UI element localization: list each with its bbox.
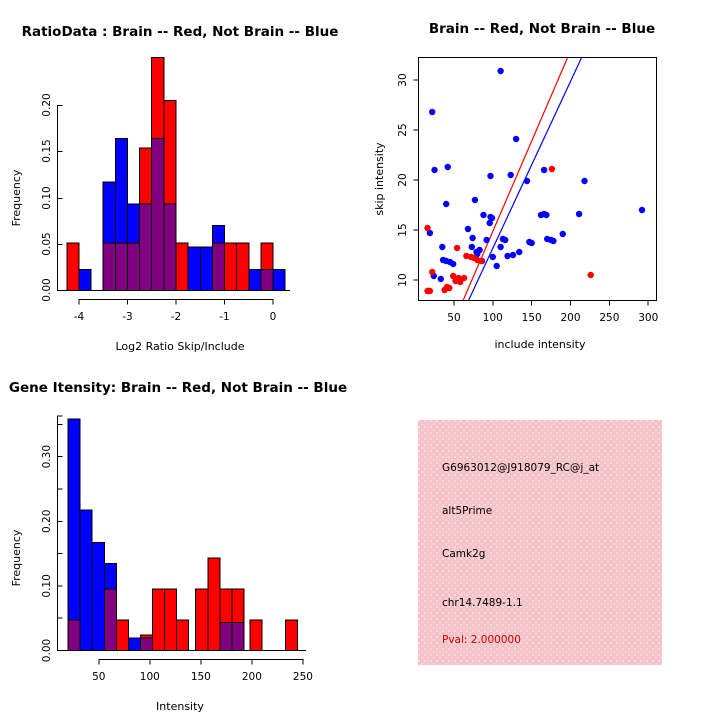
x-tick-label-3: -1 (219, 311, 229, 323)
ratio-bar-overlap (212, 243, 224, 290)
x-tick-label-4: 0 (270, 311, 277, 323)
gene-bar-brain (208, 558, 220, 650)
scatter-x-tick-label-3: 200 (561, 312, 581, 324)
scatter-x-axis: 50100150200250300 (447, 301, 658, 325)
gene-x-tick-label-2: 150 (191, 671, 211, 683)
gene-bar-brain (152, 589, 164, 650)
scatter-point-not-brain (429, 109, 435, 115)
gene-bar-brain (196, 589, 208, 650)
ratio-bars-brain (67, 58, 273, 291)
scatter-point-brain (424, 225, 430, 231)
scatter-point-not-brain (487, 220, 493, 226)
gene-y-tick-label-3: 0.30 (41, 445, 53, 468)
scatter-x-tick-label-2: 150 (522, 312, 542, 324)
scatter-point-not-brain (550, 238, 556, 244)
scatter-point-brain (429, 269, 435, 275)
intensity-scatter-panel: Brain -- Red, Not Brain -- Blue 10152025… (360, 0, 720, 360)
scatter-point-brain (441, 287, 447, 293)
scatter-title: Brain -- Red, Not Brain -- Blue (429, 21, 655, 37)
gene-bar-overlap (68, 620, 80, 651)
scatter-point-not-brain (445, 164, 451, 170)
scatter-x-tick-label-1: 100 (483, 312, 503, 324)
scatter-point-not-brain (431, 167, 437, 173)
scatter-point-not-brain (507, 172, 513, 178)
scatter-points-not-brain (426, 68, 645, 294)
gene-intensity-histogram-panel: Gene Itensity: Brain -- Red, Not Brain -… (0, 360, 360, 720)
gene-y-axis-line (58, 416, 63, 651)
scatter-point-brain (457, 279, 463, 285)
scatter-point-not-brain (516, 249, 522, 255)
ratio-bar-overlap (164, 204, 176, 291)
scatter-point-not-brain (450, 261, 456, 267)
ratio-bar-brain (67, 243, 79, 290)
probe-id-text: G6963012@J918079_RC@j_at (442, 462, 599, 474)
scatter-point-not-brain (528, 240, 534, 246)
scatter-y-axis: 1015202530 (397, 73, 419, 286)
ratio-bar-not-brain (273, 270, 285, 291)
gene-info-panel: G6963012@J918079_RC@j_at alt5Prime Camk2… (360, 360, 720, 720)
scatter-y-tick-label-1: 15 (397, 223, 409, 236)
scatter-x-tick-label-4: 250 (599, 312, 619, 324)
scatter-point-not-brain (504, 253, 510, 259)
gene-bar-overlap (220, 622, 232, 650)
scatter-point-not-brain (581, 178, 587, 184)
ratio-bar-overlap (152, 139, 164, 291)
scatter-point-not-brain (560, 231, 566, 237)
x-axis-title: Log2 Ratio Skip/Include (115, 340, 244, 353)
scatter-y-tick-label-4: 30 (397, 73, 409, 86)
locus-text: chr14.7489-1.1 (442, 597, 523, 609)
ratio-histogram-y-axis: 0.00 0.05 0.10 0.15 0.20 Frequency (10, 93, 63, 301)
scatter-point-not-brain (487, 173, 493, 179)
gene-bar-brain (177, 620, 189, 651)
gene-x-tick-label-1: 100 (140, 671, 160, 683)
scatter-x-tick-label-0: 50 (447, 312, 460, 324)
scatter-y-tick-label-2: 20 (397, 173, 409, 186)
gene-histogram-y-axis: 0.000.100.200.30 (41, 416, 63, 662)
x-tick-label-2: -2 (171, 311, 181, 323)
gene-bar-not-brain (80, 510, 92, 650)
scatter-y-tick-label-0: 10 (397, 273, 409, 286)
scatter-point-not-brain (502, 237, 508, 243)
scatter-point-brain (588, 272, 594, 278)
ratio-bar-brain (237, 243, 249, 290)
scatter-point-not-brain (465, 226, 471, 232)
ratio-bar-overlap (140, 204, 152, 291)
scatter-point-not-brain (541, 167, 547, 173)
scatter-point-not-brain (490, 254, 496, 260)
gene-x-axis-title: Intensity (156, 700, 204, 713)
scatter-point-not-brain (576, 211, 582, 217)
scatter-point-not-brain (524, 178, 530, 184)
scatter-point-not-brain (469, 235, 475, 241)
x-tick-label-1: -3 (122, 311, 132, 323)
scatter-point-not-brain (497, 244, 503, 250)
gene-y-axis-title: Frequency (10, 529, 23, 586)
gene-info-box: G6963012@J918079_RC@j_at alt5Prime Camk2… (418, 420, 662, 665)
scatter-x-axis-title: include intensity (494, 338, 586, 351)
x-tick-label-0: -4 (74, 311, 85, 323)
ratio-histogram-svg: RatioData : Brain -- Red, Not Brain -- B… (0, 0, 360, 360)
scatter-point-not-brain (639, 207, 645, 213)
ratio-bar-overlap (115, 243, 127, 290)
gene-x-tick-label-3: 200 (242, 671, 262, 683)
scatter-point-not-brain (443, 201, 449, 207)
ratio-histogram-x-axis: -4-3-2-10 (74, 300, 277, 324)
pval-text: Pval: 2.000000 (442, 634, 521, 646)
gene-bar-not-brain (92, 542, 104, 650)
scatter-point-not-brain (480, 212, 486, 218)
scatter-points-brain (424, 166, 594, 294)
ratio-bar-not-brain (188, 247, 200, 290)
ratio-bar-not-brain (200, 247, 212, 290)
ratio-bar-overlap (127, 243, 139, 290)
gene-symbol-text: Camk2g (442, 548, 485, 560)
scatter-x-tick-label-5: 300 (638, 312, 658, 324)
scatter-point-not-brain (438, 276, 444, 282)
gene-histogram-title: Gene Itensity: Brain -- Red, Not Brain -… (9, 380, 347, 396)
gene-bar-not-brain (128, 638, 140, 651)
scatter-point-not-brain (513, 136, 519, 142)
gene-histogram-x-axis: 50100150200250 (92, 660, 313, 684)
y-tick-label-4: 0.20 (41, 93, 53, 116)
gene-bar-brain (116, 620, 128, 651)
gene-y-tick-label-0: 0.00 (41, 639, 53, 662)
ratio-bar-overlap (103, 243, 115, 290)
gene-bar-overlap (104, 589, 116, 650)
scatter-point-not-brain (469, 244, 475, 250)
scatter-point-not-brain (483, 237, 489, 243)
gene-y-tick-label-2: 0.20 (41, 510, 53, 533)
gene-bar-not-brain (68, 419, 80, 651)
ratio-bar-not-brain (249, 270, 261, 291)
y-tick-label-1: 0.05 (41, 232, 53, 255)
intensity-scatter-svg: Brain -- Red, Not Brain -- Blue 10152025… (360, 0, 720, 360)
gene-x-tick-label-4: 250 (293, 671, 313, 683)
scatter-point-not-brain (543, 212, 549, 218)
ratio-bar-brain (225, 243, 237, 290)
brain-fit-line (463, 58, 567, 300)
gene-bar-brain (250, 620, 262, 651)
scatter-point-brain (549, 166, 555, 172)
y-axis-title: Frequency (10, 169, 23, 226)
gene-histogram-svg: Gene Itensity: Brain -- Red, Not Brain -… (0, 360, 360, 720)
scatter-y-axis-title: skip intensity (373, 142, 386, 216)
scatter-point-not-brain (494, 263, 500, 269)
scatter-point-not-brain (472, 197, 478, 203)
scatter-point-not-brain (510, 252, 516, 258)
gene-bar-overlap (232, 622, 244, 650)
y-tick-label-2: 0.10 (41, 186, 53, 209)
scatter-point-brain (474, 257, 480, 263)
scatter-y-tick-label-3: 25 (397, 123, 409, 136)
ratio-bar-brain (176, 243, 188, 290)
scatter-point-not-brain (439, 244, 445, 250)
scatter-point-brain (427, 288, 433, 294)
event-type-text: alt5Prime (442, 505, 492, 517)
y-tick-label-3: 0.15 (41, 139, 53, 162)
gene-bar-brain (286, 620, 298, 651)
gene-bar-brain (165, 589, 177, 650)
scatter-point-brain (454, 245, 460, 251)
ratio-bar-overlap (261, 270, 273, 291)
ratio-bar-not-brain (79, 270, 91, 291)
y-tick-label-0: 0.00 (41, 278, 53, 301)
gene-x-tick-label-0: 50 (92, 671, 105, 683)
ratio-histogram-title: RatioData : Brain -- Red, Not Brain -- B… (22, 24, 339, 40)
gene-y-tick-label-1: 0.10 (41, 574, 53, 597)
gene-bar-overlap (140, 638, 152, 651)
ratio-histogram-panel: RatioData : Brain -- Red, Not Brain -- B… (0, 0, 360, 360)
scatter-point-not-brain (497, 68, 503, 74)
